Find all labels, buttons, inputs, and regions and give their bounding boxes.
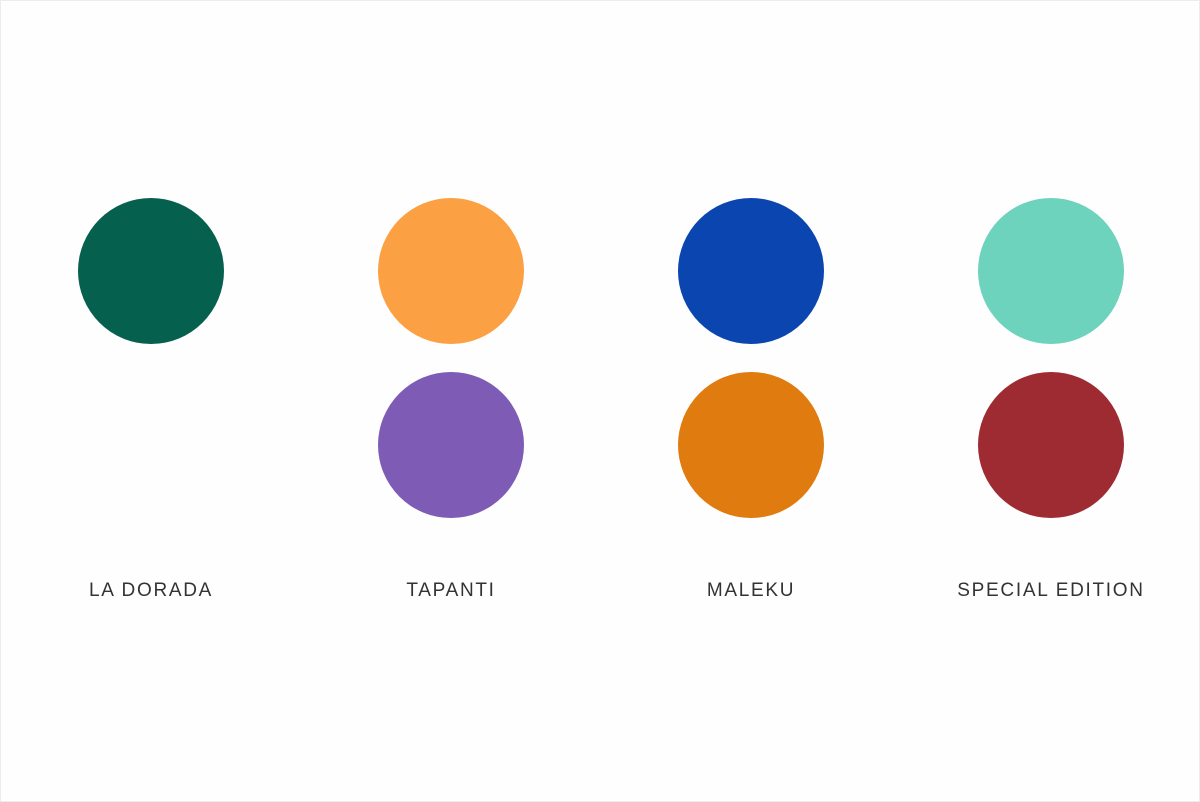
swatch-label-maleku: MALEKU bbox=[707, 581, 795, 600]
palette-grid: LA DORADA TAPANTI MALEKU SPECIAL EDITION bbox=[1, 1, 1200, 802]
swatch-label-la-dorada: LA DORADA bbox=[89, 581, 213, 600]
color-swatch-la-dorada-secondary-empty bbox=[78, 372, 224, 518]
color-swatch-tapanti-primary[interactable] bbox=[378, 198, 524, 344]
swatch-label-special-edition: SPECIAL EDITION bbox=[957, 581, 1144, 600]
color-swatch-special-edition-secondary[interactable] bbox=[978, 372, 1124, 518]
color-swatch-la-dorada-primary[interactable] bbox=[78, 198, 224, 344]
swatch-label-tapanti: TAPANTI bbox=[406, 581, 495, 600]
palette-canvas: LA DORADA TAPANTI MALEKU SPECIAL EDITION bbox=[0, 0, 1200, 802]
color-swatch-tapanti-secondary[interactable] bbox=[378, 372, 524, 518]
color-swatch-special-edition-primary[interactable] bbox=[978, 198, 1124, 344]
color-swatch-maleku-primary[interactable] bbox=[678, 198, 824, 344]
color-swatch-maleku-secondary[interactable] bbox=[678, 372, 824, 518]
